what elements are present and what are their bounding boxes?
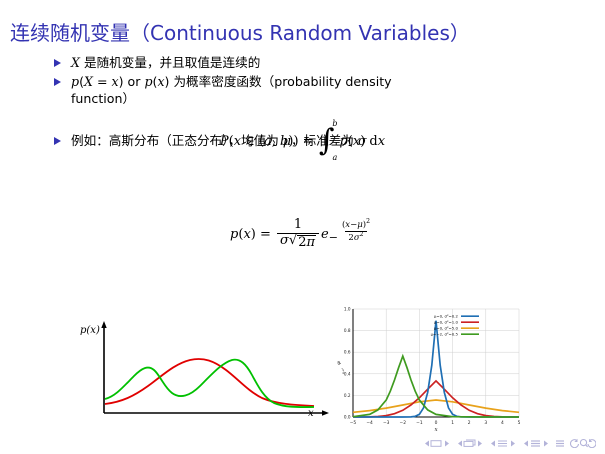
svg-text:1.0: 1.0 [344,307,351,312]
subsection-nav-icon[interactable] [489,439,517,448]
legend-entry-1: μ=0, σ²=1.0 [434,320,479,325]
svg-text:μ=−2, σ²=0.5: μ=−2, σ²=0.5 [431,332,459,337]
legend-entry-2: μ=0, σ²=5.0 [434,326,479,331]
page-title: 连续随机变量（Continuous Random Variables） [10,17,470,46]
slide-nav-icon[interactable] [423,439,451,448]
svg-text:μ=0, σ²=5.0: μ=0, σ²=5.0 [434,326,459,331]
legend-entry-3: μ=−2, σ²=0.5 [431,332,479,337]
back-search-forward-icon[interactable] [570,438,596,448]
bullet-item-pdf: p(X = x) or p(x) 为概率密度函数（probability den… [54,73,554,107]
appendix-icon[interactable] [555,439,565,448]
svg-text:0.6: 0.6 [344,350,351,355]
slide-root: 连续随机变量（Continuous Random Variables） X 是随… [0,0,605,454]
svg-text:0.8: 0.8 [344,328,351,333]
svg-text:−1: −1 [416,420,423,426]
svg-text:3: 3 [484,420,487,426]
svg-text:2: 2 [468,420,471,426]
equation-probability-integral: P(x ∈ (a, b)) = ∫ b a p(x) dx [0,126,605,156]
triangle-bullet-icon [54,59,64,67]
left-figure-ylabel: p(x) [80,325,100,336]
bullet-item-random-variable: X 是随机变量，并且取值是连续的 [54,54,554,71]
svg-text:0: 0 [435,420,438,426]
figure-normal-distributions: 0.0 0.2 0.4 0.6 0.8 1.0 −5 −4 −3 −2 −1 0… [333,297,525,436]
legend-entry-0: μ=0, σ²=0.2 [434,314,479,319]
plot-ytick-labels: 0.0 0.2 0.4 0.6 0.8 1.0 [344,307,351,420]
plot-xlabel: x [434,427,438,433]
curve-bimodal-green [105,360,314,407]
beamer-navigation-symbols[interactable] [423,438,596,448]
left-figure-axes [101,321,329,416]
svg-text:0.0: 0.0 [344,415,351,420]
plot-ylabel: φ [336,361,342,365]
frame-nav-icon[interactable] [456,439,484,448]
svg-text:5: 5 [518,420,521,426]
bullet-label-1: X 是随机变量，并且取值是连续的 [71,54,260,71]
left-figure-canvas [62,316,330,428]
svg-text:μ=0, σ²=0.2: μ=0, σ²=0.2 [434,314,459,319]
section-nav-icon[interactable] [522,439,550,448]
normal-curve-mu-2 [353,356,519,417]
svg-text:4: 4 [501,420,504,426]
plot-xtick-labels: −5 −4 −3 −2 −1 0 1 2 3 4 5 [350,420,521,426]
normal-curve-var1 [353,381,519,417]
svg-text:μ,σ²: μ,σ² [341,367,345,374]
figure-density-sketch: p(x) x [62,316,330,428]
bullet-label-2: p(X = x) or p(x) 为概率密度函数（probability den… [71,73,392,107]
normal-plot-canvas: 0.0 0.2 0.4 0.6 0.8 1.0 −5 −4 −3 −2 −1 0… [333,297,525,436]
left-figure-xlabel: x [308,408,314,419]
plot-legend: μ=0, σ²=0.2 μ=0, σ²=1.0 μ=0, σ²=5.0 μ=−2… [431,314,479,337]
triangle-bullet-icon [54,78,64,86]
curve-unimodal-red [105,359,314,406]
svg-text:−5: −5 [350,420,357,426]
svg-text:0.2: 0.2 [344,393,351,398]
equation-gaussian-pdf: p(x) = 1 σ√2π e − (x−μ)2 2σ2 [0,218,605,250]
svg-text:μ=0, σ²=1.0: μ=0, σ²=1.0 [434,320,459,325]
svg-text:1: 1 [451,420,454,426]
svg-text:−4: −4 [366,420,373,426]
svg-text:−3: −3 [383,420,390,426]
svg-text:−2: −2 [400,420,407,426]
